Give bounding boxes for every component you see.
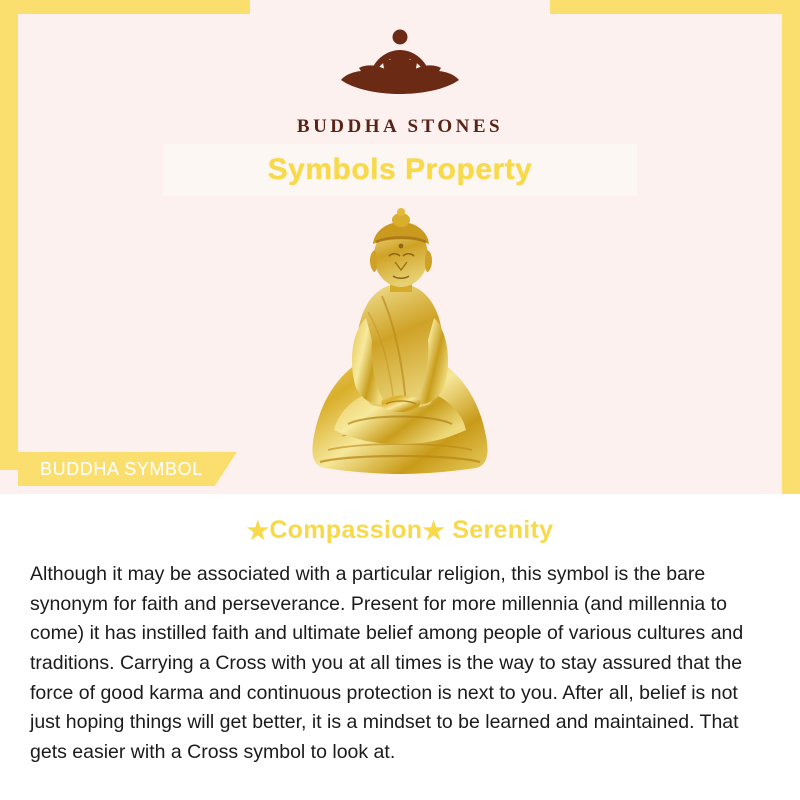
hero-image — [0, 200, 800, 490]
star-icon-right: ★ — [422, 517, 445, 545]
subtitle-word-two: Serenity — [452, 516, 553, 544]
symbol-tag: BUDDHA SYMBOL — [18, 452, 237, 486]
corner-accent-top-left — [0, 0, 22, 22]
poster-root: BUDDHA STONES Symbols Property — [0, 0, 800, 800]
star-icon-left: ★ — [247, 517, 270, 545]
subtitle: ★Compassion★ Serenity — [30, 516, 770, 546]
subtitle-word-one: Compassion — [269, 516, 422, 544]
lotus-meditation-figure-icon — [325, 24, 475, 110]
top-right-ribbon — [550, 0, 800, 14]
title-banner: Symbols Property — [163, 144, 637, 196]
corner-accent-top-right — [778, 0, 800, 22]
brand-name: BUDDHA STONES — [297, 116, 503, 138]
page-title: Symbols Property — [268, 153, 533, 187]
seated-buddha-statue-illustration — [290, 200, 510, 490]
brand-logo: BUDDHA STONES — [0, 24, 800, 138]
content-panel: ★Compassion★ Serenity Although it may be… — [0, 494, 800, 800]
top-left-ribbon — [0, 0, 250, 14]
body-paragraph: Although it may be associated with a par… — [30, 560, 770, 767]
symbol-tag-label: BUDDHA SYMBOL — [40, 459, 203, 480]
